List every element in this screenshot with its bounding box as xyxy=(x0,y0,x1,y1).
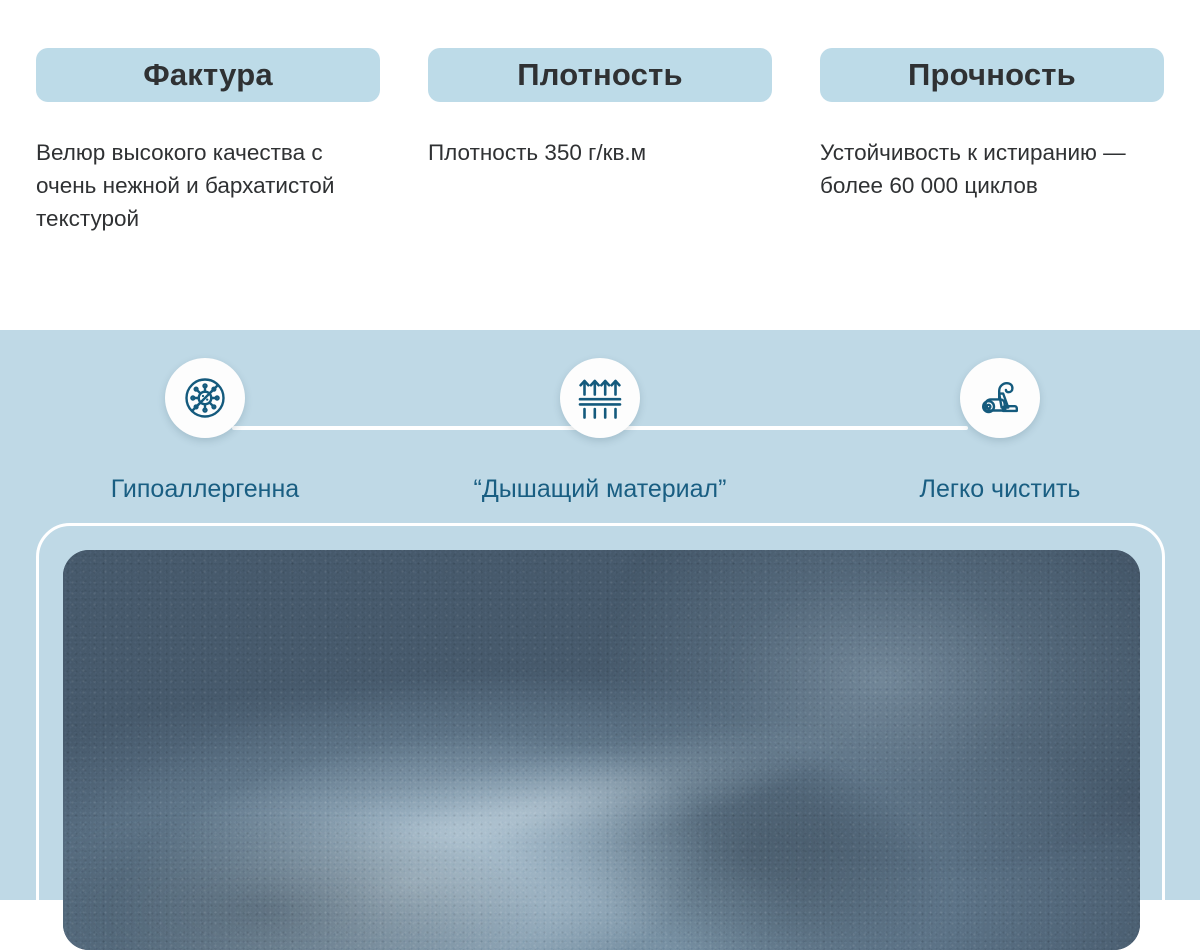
spec-text-texture: Велюр высокого качества с очень нежной и… xyxy=(36,136,380,235)
feature-hypoallergenic: Гипоаллергенна xyxy=(35,358,375,504)
feature-label-hypoallergenic: Гипоаллергенна xyxy=(111,474,299,504)
spec-section: Фактура Велюр высокого качества с очень … xyxy=(0,0,1200,330)
feature-icon-circle xyxy=(560,358,640,438)
fabric-photo xyxy=(63,550,1140,950)
spec-badge-durability: Прочность xyxy=(820,48,1164,102)
spec-text-durability: Устойчивость к истиранию — более 60 000 … xyxy=(820,136,1164,202)
spec-column-texture: Фактура Велюр высокого качества с очень … xyxy=(36,48,380,330)
spec-column-durability: Прочность Устойчивость к истиранию — бол… xyxy=(820,48,1164,330)
spec-column-density: Плотность Плотность 350 г/кв.м xyxy=(428,48,772,330)
fabric-spec-infographic: Фактура Велюр высокого качества с очень … xyxy=(0,0,1200,900)
feature-icon-circle xyxy=(960,358,1040,438)
feature-icon-circle xyxy=(165,358,245,438)
spec-badge-density: Плотность xyxy=(428,48,772,102)
fabric-pile-texture-coarse xyxy=(63,550,1140,950)
feature-breathable: “Дышащий материал” xyxy=(430,358,770,504)
feature-label-breathable: “Дышащий материал” xyxy=(474,474,727,504)
spec-badge-texture: Фактура xyxy=(36,48,380,102)
feature-easy-clean: Легко чистить xyxy=(830,358,1170,504)
feature-row: Гипоаллергенна xyxy=(0,358,1200,538)
spec-text-density: Плотность 350 г/кв.м xyxy=(428,136,772,169)
vacuum-cleaner-icon xyxy=(975,373,1025,423)
no-allergen-icon xyxy=(180,373,230,423)
breathable-arrows-icon xyxy=(576,374,624,422)
feature-label-easy-clean: Легко чистить xyxy=(920,474,1081,504)
